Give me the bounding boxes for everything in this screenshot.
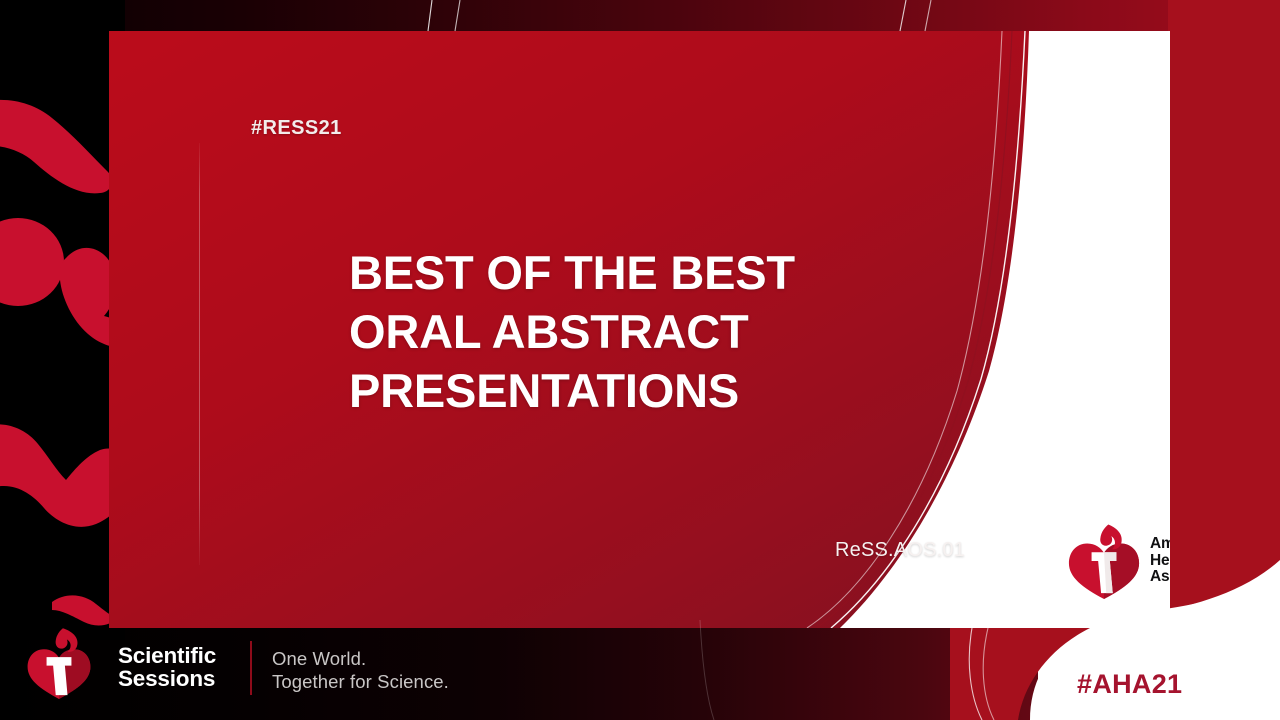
page-title: BEST OF THE BEST ORAL ABSTRACT PRESENTAT… bbox=[349, 243, 969, 420]
tagline-line-1: One World. bbox=[272, 647, 449, 670]
top-background-band bbox=[0, 0, 1280, 32]
event-hashtag: #AHA21 bbox=[1077, 669, 1182, 700]
title-line-1: BEST OF THE BEST bbox=[349, 243, 969, 302]
aha-word-line-1: American bbox=[1150, 536, 1170, 553]
vertical-accent-line bbox=[199, 143, 200, 565]
footer-tagline: One World. Together for Science. bbox=[272, 647, 449, 693]
slide-canvas: #RESS21 BEST OF THE BEST ORAL ABSTRACT P… bbox=[109, 31, 1170, 628]
brand-line-1: Scientific bbox=[118, 644, 216, 667]
title-line-2: ORAL ABSTRACT bbox=[349, 302, 969, 361]
session-hashtag: #RESS21 bbox=[251, 117, 342, 140]
scientific-sessions-wordmark: Scientific Sessions bbox=[118, 644, 216, 690]
american-heart-association-logo: American Heart Association. bbox=[1067, 520, 1170, 602]
footer-divider bbox=[250, 641, 252, 695]
title-line-3: PRESENTATIONS bbox=[349, 361, 969, 420]
presentation-slide-frame: #RESS21 BEST OF THE BEST ORAL ABSTRACT P… bbox=[0, 0, 1280, 720]
aha-logo-wordmark: American Heart Association. bbox=[1150, 536, 1170, 586]
session-code: ReSS.AOS.01 bbox=[835, 539, 965, 562]
right-background-band bbox=[1168, 0, 1280, 720]
tagline-line-2: Together for Science. bbox=[272, 670, 449, 693]
aha-word-line-3: Association. bbox=[1150, 569, 1170, 586]
brand-line-2: Sessions bbox=[118, 667, 216, 690]
aha-word-line-2: Heart bbox=[1150, 553, 1170, 570]
scientific-sessions-heart-torch-icon bbox=[26, 627, 92, 699]
heart-torch-icon bbox=[1067, 523, 1141, 599]
blob-pattern-decoration bbox=[0, 0, 125, 640]
